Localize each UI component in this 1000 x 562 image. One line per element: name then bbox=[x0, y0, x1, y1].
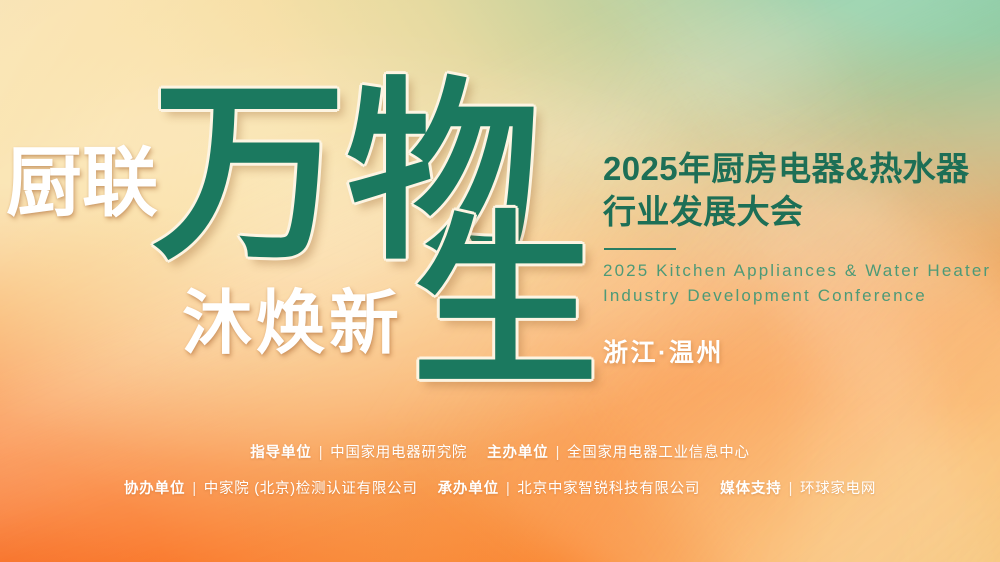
credit-separator: | bbox=[506, 482, 510, 497]
title-divider-rule bbox=[604, 248, 676, 251]
event-info-block: 2025年厨房电器&热水器 行业发展大会 2025 Kitchen Applia… bbox=[603, 148, 995, 369]
event-poster: 厨联 万物 生 沐焕新 2025年厨房电器&热水器 行业发展大会 2025 Ki… bbox=[0, 0, 1000, 562]
credit-role: 指导单位 bbox=[250, 445, 311, 461]
credit-role: 主办单位 bbox=[487, 445, 548, 461]
event-title-line-1: 2025年厨房电器&热水器 bbox=[603, 148, 995, 191]
slogan-lead-chulian: 厨联 bbox=[6, 146, 158, 222]
credit-role: 协办单位 bbox=[124, 481, 185, 497]
slogan-sub-muhuanxin: 沐焕新 bbox=[182, 288, 403, 358]
event-title-english-line-2: Industry Development Conference bbox=[603, 284, 995, 309]
credit-separator: | bbox=[789, 482, 793, 497]
event-title-english-line-1: 2025 Kitchen Appliances & Water Heater bbox=[603, 259, 995, 284]
credit-separator: | bbox=[319, 446, 323, 461]
credit-separator: | bbox=[192, 482, 196, 497]
credits-row-2: 协办单位|中家院 (北京)检测认证有限公司承办单位|北京中家智锐科技有限公司媒体… bbox=[0, 482, 1000, 497]
credit-organization: 中国家用电器研究院 bbox=[330, 445, 467, 461]
credits-block: 指导单位|中国家用电器研究院主办单位|全国家用电器工业信息中心 协办单位|中家院… bbox=[0, 446, 1000, 496]
slogan-tail-sheng: 生 bbox=[412, 212, 598, 398]
credit-separator: | bbox=[556, 446, 560, 461]
credit-organization: 北京中家智锐科技有限公司 bbox=[517, 481, 700, 497]
credit-organization: 全国家用电器工业信息中心 bbox=[567, 445, 750, 461]
event-location: 浙江·温州 bbox=[603, 333, 995, 369]
credit-role: 承办单位 bbox=[438, 481, 499, 497]
credits-row-1: 指导单位|中国家用电器研究院主办单位|全国家用电器工业信息中心 bbox=[0, 446, 1000, 461]
credit-organization: 中家院 (北京)检测认证有限公司 bbox=[204, 481, 418, 497]
event-title-line-2: 行业发展大会 bbox=[603, 191, 995, 234]
credit-organization: 环球家电网 bbox=[800, 481, 876, 497]
credit-role: 媒体支持 bbox=[720, 481, 781, 497]
